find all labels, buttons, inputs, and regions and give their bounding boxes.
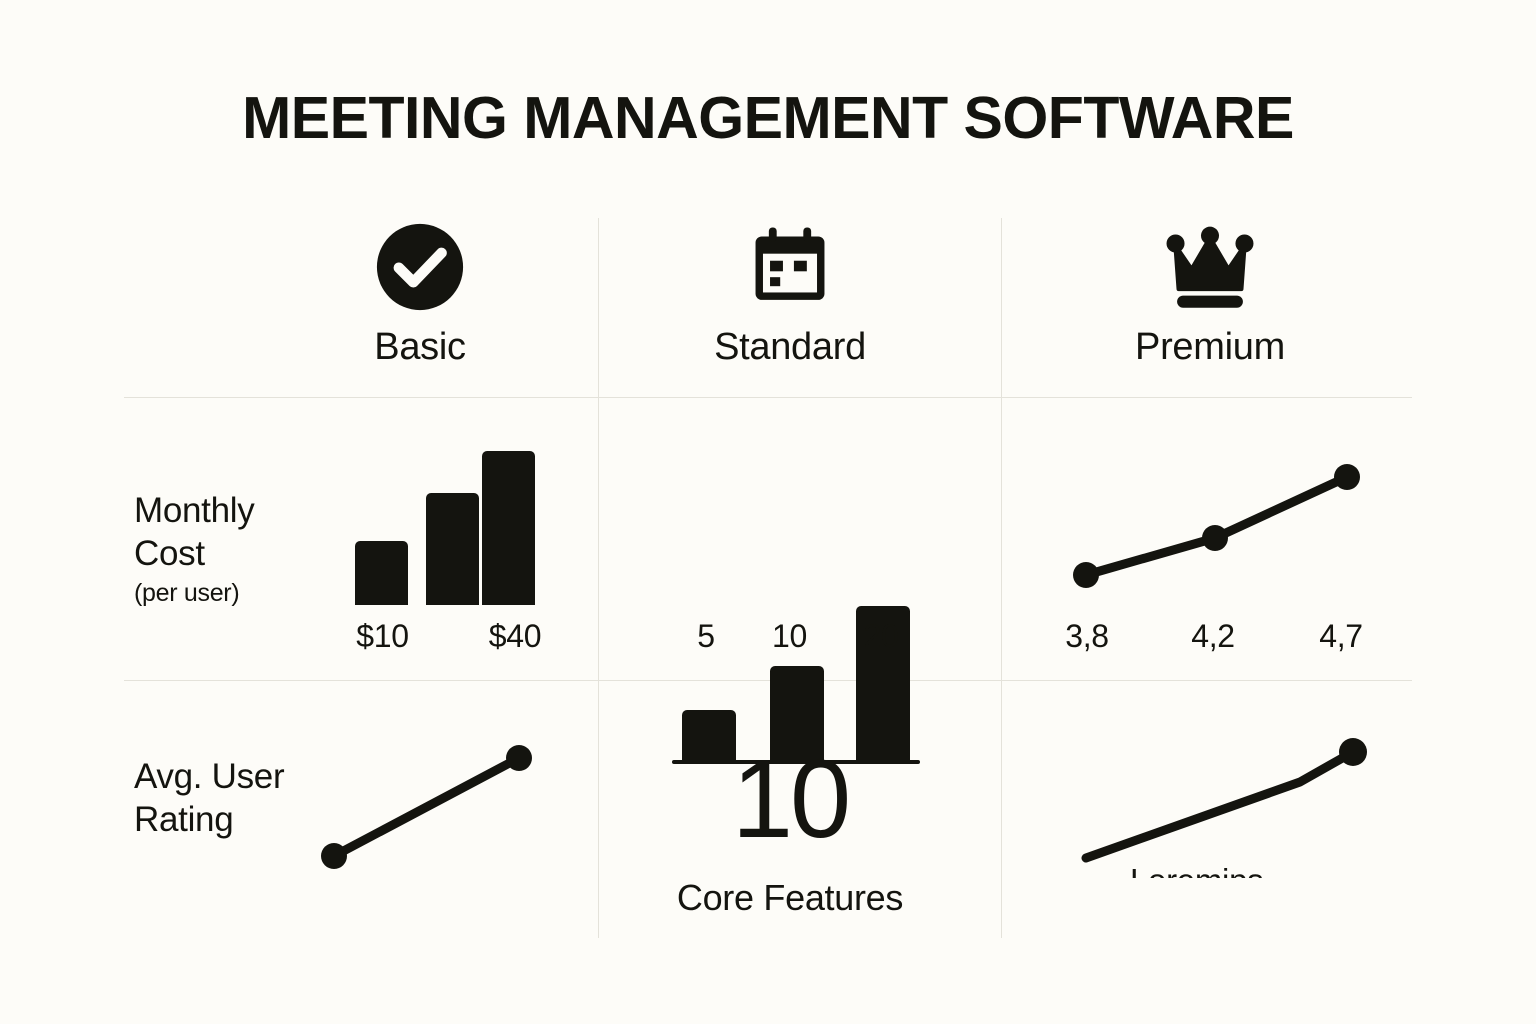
row-label-monthly-cost-main: Monthly Cost: [134, 491, 254, 573]
tick-cost-standard-1: 5: [670, 618, 742, 655]
line-rating-basic: [334, 758, 519, 856]
row-label-avg-user-rating: Avg. User Rating: [134, 756, 334, 841]
bar-basic-3: [482, 451, 535, 605]
point-cost-premium-3: [1334, 464, 1360, 490]
column-label-premium: Premium: [1080, 326, 1340, 369]
tick-row-cost-basic: $10 $40: [330, 618, 570, 655]
row-label-monthly-cost: Monthly Cost (per user): [134, 490, 334, 610]
bar-basic-2: [426, 493, 479, 605]
clipped-caption-wrap: Loremips: [1130, 862, 1340, 878]
tick-row-cost-standard: 5 10 20: [670, 618, 925, 655]
column-divider-left: [598, 218, 599, 938]
tick-cost-premium-3: 4,7: [1277, 618, 1405, 655]
page-title: MEETING MANAGEMENT SOFTWARE: [0, 84, 1536, 152]
chart-rating-premium: [1070, 725, 1390, 885]
clipped-caption: Loremips: [1130, 862, 1340, 878]
bar-basic-1: [355, 541, 408, 605]
point-rating-basic-1: [321, 843, 347, 869]
point-rating-premium-3: [1339, 738, 1367, 766]
chart-cost-premium: [1055, 455, 1375, 605]
column-header-basic[interactable]: Basic: [290, 218, 550, 369]
tick-cost-premium-1: 3,8: [1025, 618, 1149, 655]
row-divider-top: [124, 397, 1412, 398]
row-label-monthly-cost-sub: (per user): [134, 577, 334, 610]
point-cost-premium-2: [1202, 525, 1228, 551]
tick-cost-standard-3: 20: [837, 618, 925, 655]
stat-caption: Core Features: [640, 877, 940, 919]
line-rating-premium: [1086, 752, 1353, 858]
crown-icon: [1080, 218, 1340, 316]
infographic-canvas: MEETING MANAGEMENT SOFTWARE Basic: [0, 0, 1536, 1024]
chart-rating-basic: [310, 735, 560, 885]
tick-cost-premium-2: 4,2: [1149, 618, 1277, 655]
stat-rating-standard: 10 Core Features: [640, 745, 940, 919]
stat-number: 10: [640, 745, 940, 855]
tick-cost-basic-2: [435, 618, 460, 655]
calendar-icon: [660, 218, 920, 316]
tick-cost-standard-2: 10: [742, 618, 837, 655]
point-cost-premium-1: [1073, 562, 1099, 588]
point-rating-basic-2: [506, 745, 532, 771]
column-header-premium[interactable]: Premium: [1080, 218, 1340, 369]
tick-cost-basic-1: $10: [330, 618, 435, 655]
column-label-standard: Standard: [660, 326, 920, 369]
row-label-avg-user-rating-main: Avg. User Rating: [134, 757, 284, 839]
tick-cost-basic-3: $40: [460, 618, 570, 655]
column-divider-right: [1001, 218, 1002, 938]
chart-cost-basic: [355, 451, 535, 605]
tick-row-cost-premium: 3,8 4,2 4,7: [1025, 618, 1405, 655]
check-circle-icon: [290, 218, 550, 316]
column-label-basic: Basic: [290, 326, 550, 369]
column-header-standard[interactable]: Standard: [660, 218, 920, 369]
